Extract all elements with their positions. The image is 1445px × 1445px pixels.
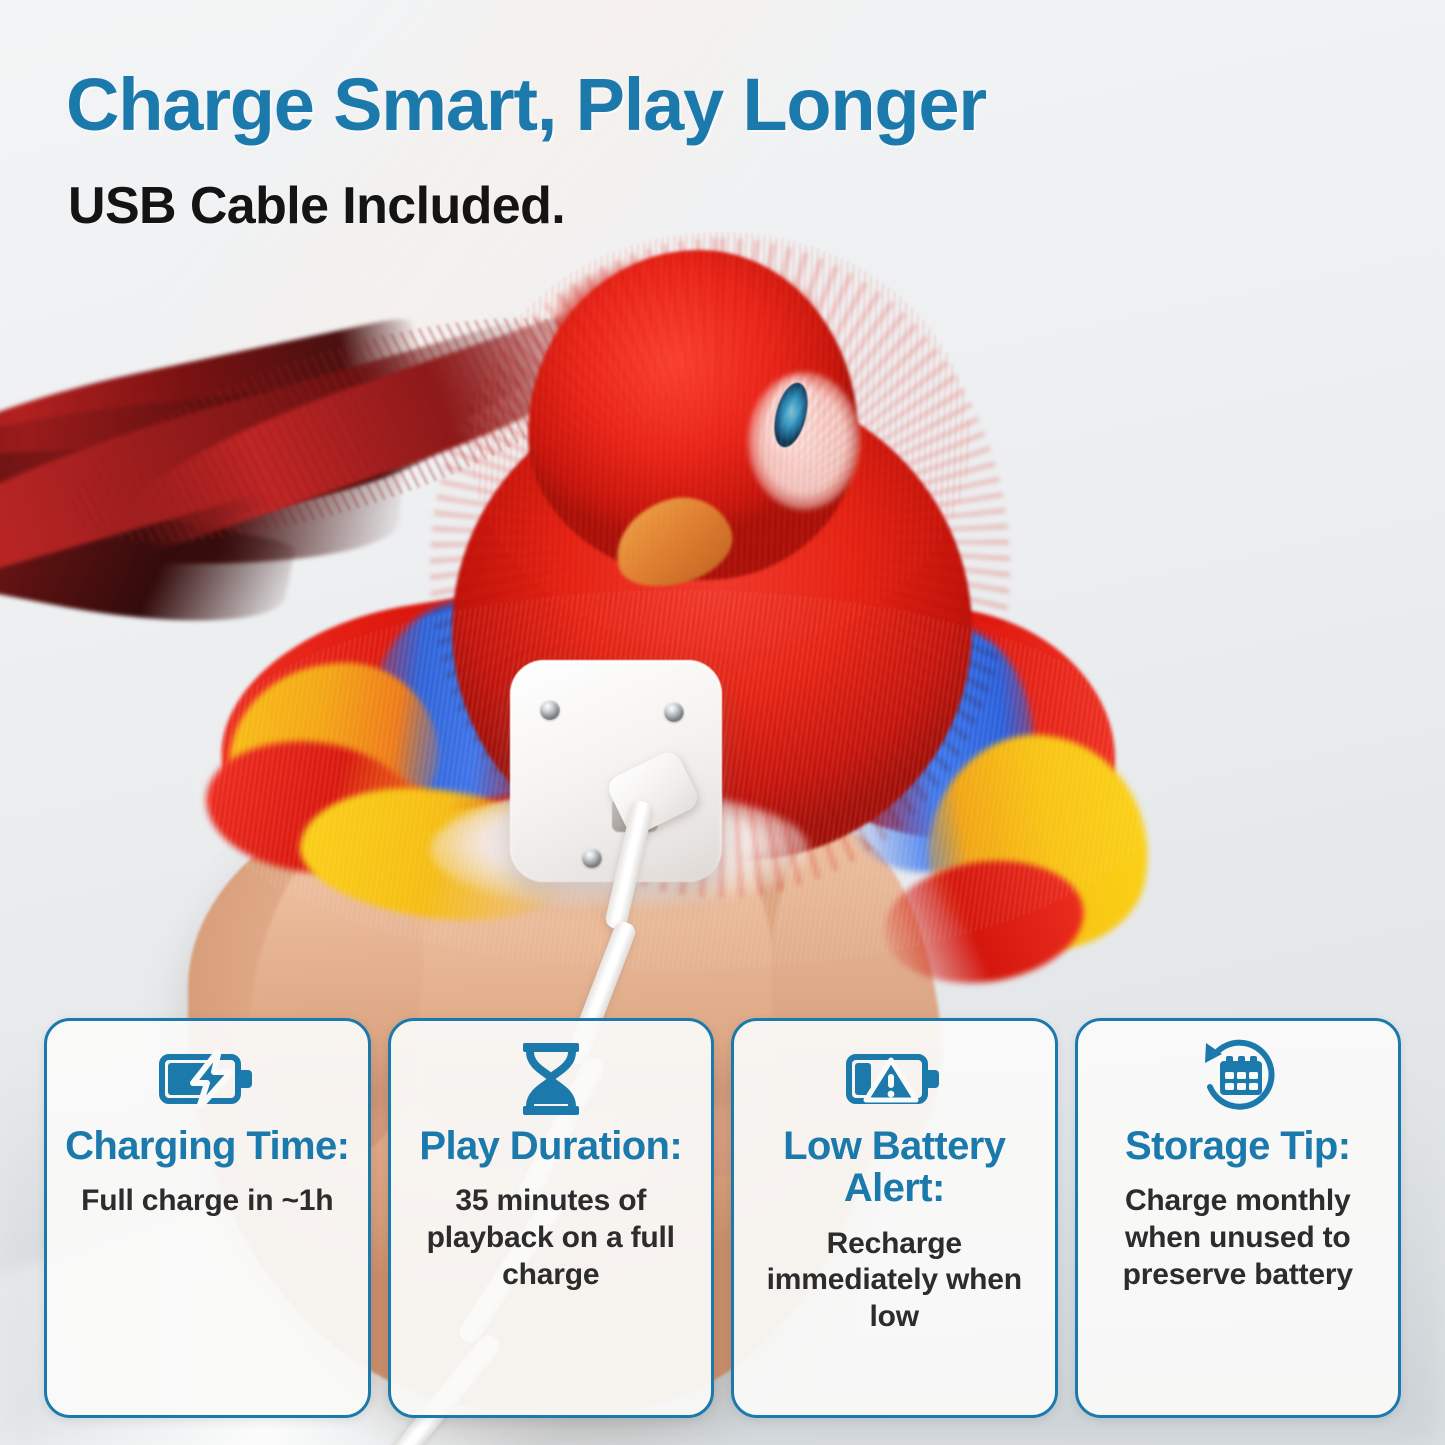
battery-charging-icon <box>159 1041 255 1117</box>
calendar-refresh-icon <box>1196 1041 1280 1117</box>
feature-card-play-duration[interactable]: Play Duration: 35 minutes of playback on… <box>388 1018 715 1418</box>
feature-card-body: 35 minutes of playback on a full charge <box>401 1183 702 1293</box>
battery-low-alert-icon <box>846 1041 942 1117</box>
feature-card-title: Storage Tip: <box>1125 1125 1350 1167</box>
cable-segment <box>604 799 655 931</box>
feature-card-title: Charging Time: <box>65 1125 349 1167</box>
feature-card-charging-time[interactable]: Charging Time: Full charge in ~1h <box>44 1018 371 1418</box>
feature-card-body: Recharge immediately when low <box>744 1226 1045 1336</box>
feature-card-title: Play Duration: <box>419 1125 682 1167</box>
infographic-canvas: Charge Smart, Play Longer USB Cable Incl… <box>0 0 1445 1445</box>
module-screw <box>664 702 684 722</box>
feature-card-storage-tip[interactable]: Storage Tip: Charge monthly when unused … <box>1075 1018 1402 1418</box>
feature-card-row: Charging Time: Full charge in ~1h Play D… <box>44 1018 1401 1418</box>
module-screw <box>540 700 560 720</box>
page-subtitle: USB Cable Included. <box>68 176 565 236</box>
page-title: Charge Smart, Play Longer <box>66 62 986 147</box>
feature-card-body: Charge monthly when unused to preserve b… <box>1088 1183 1389 1293</box>
hourglass-icon <box>517 1041 585 1117</box>
feature-card-low-battery-alert[interactable]: Low Battery Alert: Recharge immediately … <box>731 1018 1058 1418</box>
feature-card-body: Full charge in ~1h <box>81 1183 333 1220</box>
feature-card-title: Low Battery Alert: <box>744 1125 1045 1210</box>
parrot-fur-strands <box>470 232 970 652</box>
